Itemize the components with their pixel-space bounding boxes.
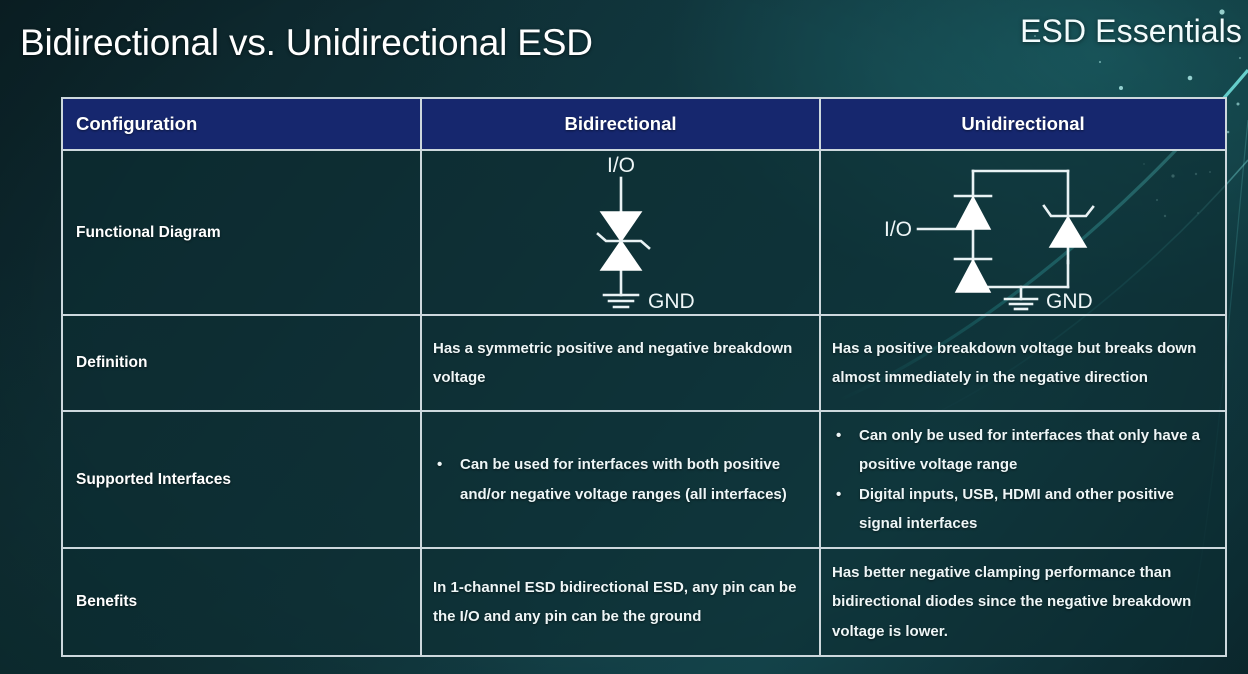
cell-bidirectional-diagram: I/O GND — [421, 150, 820, 315]
column-header-configuration: Configuration — [62, 98, 421, 150]
table-row: Definition Has a symmetric positive and … — [62, 315, 1226, 411]
list-item: Can be used for interfaces with both pos… — [433, 450, 809, 509]
table-row: Benefits In 1-channel ESD bidirectional … — [62, 548, 1226, 656]
series-label: ESD Essentials — [1020, 13, 1242, 50]
unidirectional-steering-diode-array-diagram: I/O GND — [878, 151, 1168, 314]
table-header-row: Configuration Bidirectional Unidirection… — [62, 98, 1226, 150]
bullet-list: Can be used for interfaces with both pos… — [433, 450, 809, 509]
diode-triangle-up — [601, 241, 641, 270]
cell-unidirectional-interfaces: Can only be used for interfaces that onl… — [820, 411, 1226, 548]
comparison-table: Configuration Bidirectional Unidirection… — [61, 97, 1227, 657]
bidirectional-tvs-diode-diagram: I/O GND — [506, 151, 736, 314]
zener-triangle-up — [1050, 217, 1086, 247]
table-row: Supported Interfaces Can be used for int… — [62, 411, 1226, 548]
row-label-definition: Definition — [62, 315, 421, 411]
row-label-benefits: Benefits — [62, 548, 421, 656]
io-label: I/O — [606, 154, 634, 177]
bullet-list: Can only be used for interfaces that onl… — [832, 421, 1215, 538]
column-header-unidirectional: Unidirectional — [820, 98, 1226, 150]
page-title: Bidirectional vs. Unidirectional ESD — [20, 22, 593, 64]
table-row: Functional Diagram — [62, 150, 1226, 315]
cell-unidirectional-diagram: I/O GND — [820, 150, 1226, 315]
cell-bidirectional-benefits: In 1-channel ESD bidirectional ESD, any … — [421, 548, 820, 656]
cell-unidirectional-definition: Has a positive breakdown voltage but bre… — [820, 315, 1226, 411]
cell-bidirectional-definition: Has a symmetric positive and negative br… — [421, 315, 820, 411]
column-header-bidirectional: Bidirectional — [421, 98, 820, 150]
diode-triangle-up-lower — [956, 260, 990, 292]
gnd-label: GND — [1046, 290, 1093, 313]
row-label-functional-diagram: Functional Diagram — [62, 150, 421, 315]
cell-bidirectional-interfaces: Can be used for interfaces with both pos… — [421, 411, 820, 548]
list-item: Can only be used for interfaces that onl… — [832, 421, 1215, 480]
io-label: I/O — [884, 218, 912, 241]
diode-triangle-down — [601, 212, 641, 241]
diode-triangle-up-upper — [956, 197, 990, 229]
list-item: Digital inputs, USB, HDMI and other posi… — [832, 480, 1215, 539]
row-label-supported-interfaces: Supported Interfaces — [62, 411, 421, 548]
cell-unidirectional-benefits: Has better negative clamping performance… — [820, 548, 1226, 656]
gnd-label: GND — [648, 290, 695, 313]
